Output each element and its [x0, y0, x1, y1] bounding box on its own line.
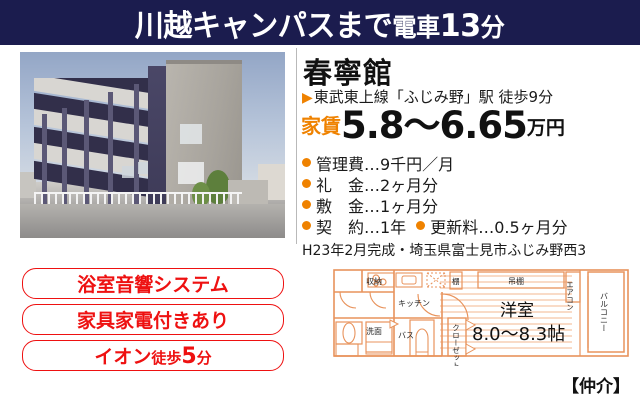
- plan-label-closet: クローゼット: [451, 324, 460, 366]
- term-extra-label: 更新料…0.5ヶ月分: [430, 214, 567, 238]
- plan-label-aircon: エアコン: [566, 281, 575, 311]
- pillar: [108, 92, 113, 206]
- term-row: 契 約…1年更新料…0.5ヶ月分: [302, 215, 638, 236]
- feature-badge-aeon-walk[interactable]: イオン徒歩5分: [22, 340, 284, 371]
- plan-label-balcony: バルコニー: [600, 292, 609, 332]
- header-sub-text: 電車: [393, 13, 441, 42]
- rent-row: 家賃 5.8〜6.65 万円: [301, 108, 565, 143]
- rent-label: 家賃: [301, 110, 341, 143]
- plan-label-bath: バス: [398, 331, 414, 340]
- pillar: [84, 100, 89, 206]
- plan-label-kitchen: キッチン: [398, 299, 430, 308]
- window: [178, 162, 204, 184]
- walk-text: 徒歩: [151, 349, 181, 367]
- term-row: 礼 金…2ヶ月分: [302, 173, 638, 194]
- feature-badge-label: イオン徒歩5分: [94, 342, 211, 369]
- plan-label-shelf: 棚: [452, 276, 460, 286]
- triangle-marker-icon: ▶: [302, 90, 313, 106]
- feature-badges: 浴室音響システム 家具家電付きあり イオン徒歩5分: [22, 268, 284, 376]
- plan-label-washbasin: 洗面: [366, 326, 382, 336]
- plan-label-hanging-shelf: 吊棚: [508, 276, 524, 286]
- header-minutes: 13: [440, 8, 481, 44]
- plan-label-storage: 収納: [366, 276, 382, 286]
- term-label: 契 約…1年: [316, 214, 406, 238]
- corner-pier: [148, 66, 168, 208]
- feature-badge-furnished[interactable]: 家具家電付きあり: [22, 304, 284, 335]
- building-exterior-photo: [20, 52, 285, 238]
- terms-list: 管理費…9千円／月 礼 金…2ヶ月分 敷 金…1ヶ月分 契 約…1年更新料…0.…: [302, 152, 638, 236]
- header-main-text: 川越キャンパスまで: [135, 9, 393, 44]
- bullet-icon: [302, 221, 311, 230]
- rent-amount: 5.8〜6.65: [341, 108, 527, 143]
- window: [180, 124, 202, 144]
- walk-minutes-unit: 分: [197, 349, 212, 367]
- mediation-label: 【仲介】: [562, 372, 630, 397]
- facade-block: [34, 78, 150, 206]
- pillar: [134, 84, 139, 206]
- column-divider: [296, 48, 297, 244]
- bullet-icon: [302, 158, 311, 167]
- bullet-icon: [416, 221, 425, 230]
- header-banner: 川越キャンパスまで電車13分: [0, 0, 640, 45]
- floor-plan-svg: 収納 キッチン 棚 吊棚 洗面 バス エアコン バルコニー クローゼット 洋室 …: [332, 268, 630, 366]
- header-catchphrase: 川越キャンパスまで電車13分: [135, 1, 505, 45]
- term-row: 敷 金…1ヶ月分: [302, 194, 638, 215]
- bullet-icon: [302, 179, 311, 188]
- floor-plan: 収納 キッチン 棚 吊棚 洗面 バス エアコン バルコニー クローゼット 洋室 …: [332, 268, 630, 366]
- plan-label-room-size: 8.0〜8.3帖: [472, 324, 565, 345]
- road: [20, 204, 285, 238]
- aeon-name: イオン: [94, 346, 151, 368]
- completion-and-address: H23年2月完成・埼玉県富士見市ふじみ野西3: [302, 240, 586, 260]
- plan-label-room: 洋室: [500, 301, 534, 321]
- feature-badge-bathroom-audio[interactable]: 浴室音響システム: [22, 268, 284, 299]
- advertisement-page: 川越キャンパスまで電車13分: [0, 0, 640, 400]
- rent-unit: 万円: [527, 113, 565, 143]
- term-row: 管理費…9千円／月: [302, 152, 638, 173]
- feature-badge-label: 浴室音響システム: [77, 270, 228, 297]
- bullet-icon: [302, 200, 311, 209]
- window: [122, 166, 134, 178]
- feature-badge-label: 家具家電付きあり: [77, 306, 229, 333]
- walk-minutes: 5: [181, 344, 196, 369]
- header-minutes-unit: 分: [481, 13, 505, 42]
